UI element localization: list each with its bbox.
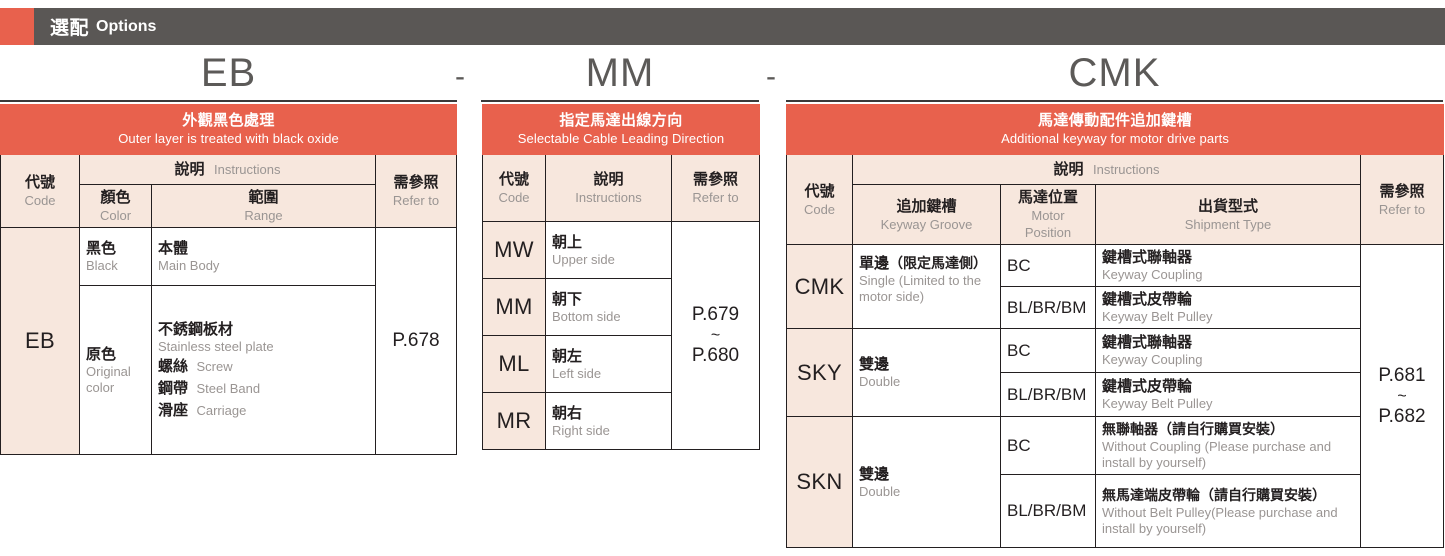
cmk-g2-r2-shipment-en: Keyway Belt Pulley — [1102, 396, 1354, 412]
cmk-g2-r1-motor: BC — [1001, 329, 1096, 373]
cmk-header-motorpos-en: Motor Position — [1007, 207, 1089, 241]
eb-header-color: 顏色 Color — [80, 185, 152, 228]
page-title-bar: 選配 Options — [0, 8, 1445, 45]
table-block-mm: 指定馬達出線方向 Selectable Cable Leading Direct… — [482, 104, 759, 450]
cmk-g1-r2-shipment-en: Keyway Belt Pulley — [1102, 309, 1354, 325]
mm-row2-desc-cn: 朝下 — [552, 290, 665, 309]
eb-row1-range-cn: 本體 — [158, 239, 369, 258]
eb-row2-extra-3-cn: 滑座 — [158, 402, 188, 419]
cmk-refer-line1: P.681 — [1378, 365, 1425, 386]
mm-refer-line1: P.679 — [692, 304, 739, 325]
cmk-header-refer-cn: 需參照 — [1367, 182, 1437, 201]
page-title-cn: 選配 — [50, 13, 89, 40]
mm-header-refer-en: Refer to — [678, 189, 753, 206]
eb-row2-extra-1-en: Screw — [196, 359, 232, 374]
eb-row1-range: 本體 Main Body — [152, 228, 376, 286]
cmk-refer-value: P.681 ~ P.682 — [1361, 245, 1444, 548]
eb-header-refer-cn: 需參照 — [382, 173, 450, 192]
eb-row2-color-cn: 原色 — [86, 345, 145, 364]
eb-row1-color: 黑色 Black — [80, 228, 152, 286]
eb-header-color-cn: 顏色 — [86, 188, 145, 207]
cmk-g2-r2-shipment-cn: 鍵槽式皮帶輪 — [1102, 377, 1354, 396]
cmk-header-shipment-en: Shipment Type — [1102, 216, 1354, 233]
mm-row4-code: MR — [483, 393, 546, 450]
options-page: 選配 Options EB - MM - CMK 外觀黑色處理 Outer la… — [0, 0, 1445, 556]
cmk-header-instructions-en: Instructions — [1093, 161, 1159, 178]
cmk-group3-keyway-cn: 雙邊 — [859, 465, 994, 484]
table-row: SKN 雙邊 Double BC 無聯軸器（請自行購買安裝） Without C… — [787, 417, 1444, 475]
cmk-g3-r2-shipment: 無馬達端皮帶輪（請自行購買安裝） Without Belt Pulley(Ple… — [1096, 475, 1361, 548]
cmk-header-keyway-cn: 追加鍵槽 — [859, 197, 994, 216]
separator-dash-1: - — [455, 62, 465, 92]
mm-banner-cn: 指定馬達出線方向 — [487, 111, 755, 130]
cmk-header-keyway: 追加鍵槽 Keyway Groove — [853, 185, 1001, 245]
mm-row1-code: MW — [483, 222, 546, 279]
cmk-g2-r2-motor: BL/BR/BM — [1001, 373, 1096, 417]
eb-header-color-en: Color — [86, 207, 145, 224]
eb-row2-extra-1-cn: 螺絲 — [158, 358, 188, 375]
cmk-g3-r1-shipment-cn: 無聯軸器（請自行購買安裝） — [1102, 420, 1354, 439]
cmk-g3-r1-shipment: 無聯軸器（請自行購買安裝） Without Coupling (Please p… — [1096, 417, 1361, 475]
mm-row1-desc: 朝上 Upper side — [546, 222, 672, 279]
mm-refer-value: P.679 ~ P.680 — [672, 222, 760, 450]
eb-header-range: 範圍 Range — [152, 185, 376, 228]
cmk-group1-keyway-cn: 單邊 — [859, 255, 889, 272]
code-heading-mm: MM — [481, 48, 759, 102]
table-row: SKY 雙邊 Double BC 鍵槽式聯軸器 Keyway Coupling — [787, 329, 1444, 373]
table-row: CMK 單邊（限定馬達側） Single (Limited to the mot… — [787, 245, 1444, 287]
eb-row2-range-en: Stainless steel plate — [158, 339, 369, 355]
eb-header-instructions-en: Instructions — [214, 161, 280, 178]
eb-header-refer: 需參照 Refer to — [376, 155, 457, 228]
mm-refer-tilde: ~ — [678, 327, 753, 344]
table-row: 指定馬達出線方向 Selectable Cable Leading Direct… — [483, 105, 760, 155]
table-row: MW 朝上 Upper side P.679 ~ P.680 — [483, 222, 760, 279]
cmk-group2-keyway-cn: 雙邊 — [859, 355, 994, 374]
title-accent-block — [0, 8, 34, 45]
table-row: 追加鍵槽 Keyway Groove 馬達位置 Motor Position 出… — [787, 185, 1444, 245]
mm-header-code-en: Code — [489, 189, 539, 206]
mm-header-code-cn: 代號 — [489, 170, 539, 189]
cmk-group3-keyway: 雙邊 Double — [853, 417, 1001, 548]
eb-row1-range-en: Main Body — [158, 258, 369, 274]
mm-row2-code: MM — [483, 279, 546, 336]
cmk-g3-r2-shipment-cn: 無馬達端皮帶輪（請自行購買安裝） — [1102, 486, 1354, 505]
eb-row2-extra-1: 螺絲 Screw — [158, 356, 369, 377]
cmk-g1-r2-motor: BL/BR/BM — [1001, 287, 1096, 329]
cmk-g1-r1-shipment: 鍵槽式聯軸器 Keyway Coupling — [1096, 245, 1361, 287]
cmk-banner: 馬達傳動配件追加鍵槽 Additional keyway for motor d… — [787, 105, 1444, 155]
cmk-header-code-en: Code — [793, 201, 846, 218]
mm-row2-desc-en: Bottom side — [552, 309, 665, 325]
eb-row2-extra-3-en: Carriage — [196, 403, 246, 418]
code-heading-cmk: CMK — [786, 48, 1443, 102]
cmk-g2-r1-shipment-en: Keyway Coupling — [1102, 352, 1354, 368]
cmk-header-shipment-cn: 出貨型式 — [1102, 197, 1354, 216]
eb-header-range-cn: 範圍 — [158, 188, 369, 207]
eb-banner-en: Outer layer is treated with black oxide — [5, 130, 452, 147]
table-row: EB 黑色 Black 本體 Main Body P.678 — [1, 228, 457, 286]
cmk-group2-keyway: 雙邊 Double — [853, 329, 1001, 417]
options-table-eb: 外觀黑色處理 Outer layer is treated with black… — [0, 104, 457, 455]
cmk-refer-line2: P.682 — [1378, 406, 1425, 427]
cmk-banner-en: Additional keyway for motor drive parts — [791, 130, 1439, 147]
mm-row1-desc-en: Upper side — [552, 252, 665, 268]
cmk-g2-r1-shipment-cn: 鍵槽式聯軸器 — [1102, 333, 1354, 352]
options-table-cmk: 馬達傳動配件追加鍵槽 Additional keyway for motor d… — [786, 104, 1444, 548]
eb-header-refer-en: Refer to — [382, 192, 450, 209]
cmk-g2-r1-shipment: 鍵槽式聯軸器 Keyway Coupling — [1096, 329, 1361, 373]
eb-row2-color: 原色 Original color — [80, 286, 152, 455]
cmk-header-instructions: 說明 Instructions — [853, 155, 1361, 185]
cmk-g1-r2-shipment-cn: 鍵槽式皮帶輪 — [1102, 290, 1354, 309]
cmk-g1-r1-shipment-cn: 鍵槽式聯軸器 — [1102, 248, 1354, 267]
eb-row2-extra-2: 鋼帶 Steel Band — [158, 378, 369, 399]
cmk-group1-keyway-cnline: 單邊（限定馬達側） — [859, 253, 994, 273]
eb-row1-color-cn: 黑色 — [86, 239, 145, 258]
mm-banner-en: Selectable Cable Leading Direction — [487, 130, 755, 147]
eb-header-instructions-cn: 說明 — [175, 160, 205, 179]
cmk-header-instructions-cn: 說明 — [1054, 160, 1084, 179]
table-row: 代號 Code 說明 Instructions 需參照 Refer to — [1, 155, 457, 185]
eb-row2-extra-2-cn: 鋼帶 — [158, 380, 188, 397]
eb-row2-extra-2-en: Steel Band — [196, 381, 260, 396]
eb-refer-value: P.678 — [376, 228, 457, 455]
mm-header-refer-cn: 需參照 — [678, 170, 753, 189]
mm-header-instructions-en: Instructions — [552, 189, 665, 206]
cmk-group1-keyway-paren: （限定馬達側） — [889, 255, 987, 271]
code-heading-eb: EB — [0, 48, 457, 102]
eb-row2-extra-3: 滑座 Carriage — [158, 400, 369, 421]
table-block-cmk: 馬達傳動配件追加鍵槽 Additional keyway for motor d… — [786, 104, 1443, 548]
eb-header-range-en: Range — [158, 207, 369, 224]
mm-row4-desc-en: Right side — [552, 423, 665, 439]
eb-header-code-en: Code — [7, 192, 73, 209]
mm-row3-desc-en: Left side — [552, 366, 665, 382]
cmk-g3-r1-shipment-en: Without Coupling (Please purchase and in… — [1102, 439, 1354, 471]
cmk-group3-code: SKN — [787, 417, 853, 548]
mm-row3-code: ML — [483, 336, 546, 393]
table-row: 外觀黑色處理 Outer layer is treated with black… — [1, 105, 457, 155]
mm-header-code: 代號 Code — [483, 155, 546, 222]
mm-header-instructions-cn: 說明 — [552, 170, 665, 189]
eb-row1-color-en: Black — [86, 258, 145, 274]
cmk-g1-r1-motor: BC — [1001, 245, 1096, 287]
eb-header-instructions: 說明 Instructions — [80, 155, 376, 185]
cmk-refer-tilde: ~ — [1367, 388, 1437, 405]
mm-refer-line2: P.680 — [692, 345, 739, 366]
table-row: 馬達傳動配件追加鍵槽 Additional keyway for motor d… — [787, 105, 1444, 155]
mm-row4-desc-cn: 朝右 — [552, 404, 665, 423]
cmk-header-refer-en: Refer to — [1367, 201, 1437, 218]
cmk-header-code: 代號 Code — [787, 155, 853, 245]
eb-header-code-cn: 代號 — [7, 173, 73, 192]
options-table-mm: 指定馬達出線方向 Selectable Cable Leading Direct… — [482, 104, 760, 450]
cmk-banner-cn: 馬達傳動配件追加鍵槽 — [791, 111, 1439, 130]
table-row: 代號 Code 說明 Instructions 需參照 Refer to — [483, 155, 760, 222]
mm-row3-desc-cn: 朝左 — [552, 347, 665, 366]
cmk-header-refer: 需參照 Refer to — [1361, 155, 1444, 245]
eb-row2-color-en: Original color — [86, 364, 145, 396]
eb-banner: 外觀黑色處理 Outer layer is treated with black… — [1, 105, 457, 155]
cmk-g1-r1-shipment-en: Keyway Coupling — [1102, 267, 1354, 283]
separator-dash-2: - — [766, 62, 776, 92]
mm-row2-desc: 朝下 Bottom side — [546, 279, 672, 336]
cmk-group2-code: SKY — [787, 329, 853, 417]
eb-code-value: EB — [1, 228, 80, 455]
eb-row2-range-cn: 不銹鋼板材 — [158, 320, 369, 339]
cmk-header-shipment: 出貨型式 Shipment Type — [1096, 185, 1361, 245]
table-row: 代號 Code 說明 Instructions 需參照 Refer to — [787, 155, 1444, 185]
mm-banner: 指定馬達出線方向 Selectable Cable Leading Direct… — [483, 105, 760, 155]
cmk-g2-r2-shipment: 鍵槽式皮帶輪 Keyway Belt Pulley — [1096, 373, 1361, 417]
cmk-header-motorpos: 馬達位置 Motor Position — [1001, 185, 1096, 245]
eb-banner-cn: 外觀黑色處理 — [5, 111, 452, 130]
table-block-eb: 外觀黑色處理 Outer layer is treated with black… — [0, 104, 456, 455]
mm-header-refer: 需參照 Refer to — [672, 155, 760, 222]
cmk-g3-r2-motor: BL/BR/BM — [1001, 475, 1096, 548]
cmk-g3-r1-motor: BC — [1001, 417, 1096, 475]
mm-row4-desc: 朝右 Right side — [546, 393, 672, 450]
title-bar-body: 選配 Options — [34, 8, 1445, 45]
cmk-group3-keyway-en: Double — [859, 484, 994, 500]
eb-row2-range: 不銹鋼板材 Stainless steel plate 螺絲 Screw 鋼帶 … — [152, 286, 376, 455]
cmk-group1-keyway: 單邊（限定馬達側） Single (Limited to the motor s… — [853, 245, 1001, 329]
cmk-header-keyway-en: Keyway Groove — [859, 216, 994, 233]
mm-row3-desc: 朝左 Left side — [546, 336, 672, 393]
cmk-g1-r2-shipment: 鍵槽式皮帶輪 Keyway Belt Pulley — [1096, 287, 1361, 329]
mm-header-instructions: 說明 Instructions — [546, 155, 672, 222]
cmk-group1-keyway-en: Single (Limited to the motor side) — [859, 273, 994, 305]
cmk-header-motorpos-cn: 馬達位置 — [1007, 188, 1089, 207]
cmk-group1-code: CMK — [787, 245, 853, 329]
page-title-en: Options — [96, 18, 156, 36]
cmk-header-code-cn: 代號 — [793, 182, 846, 201]
cmk-g3-r2-shipment-en: Without Belt Pulley(Please purchase and … — [1102, 505, 1354, 537]
cmk-group2-keyway-en: Double — [859, 374, 994, 390]
eb-header-code: 代號 Code — [1, 155, 80, 228]
mm-row1-desc-cn: 朝上 — [552, 233, 665, 252]
